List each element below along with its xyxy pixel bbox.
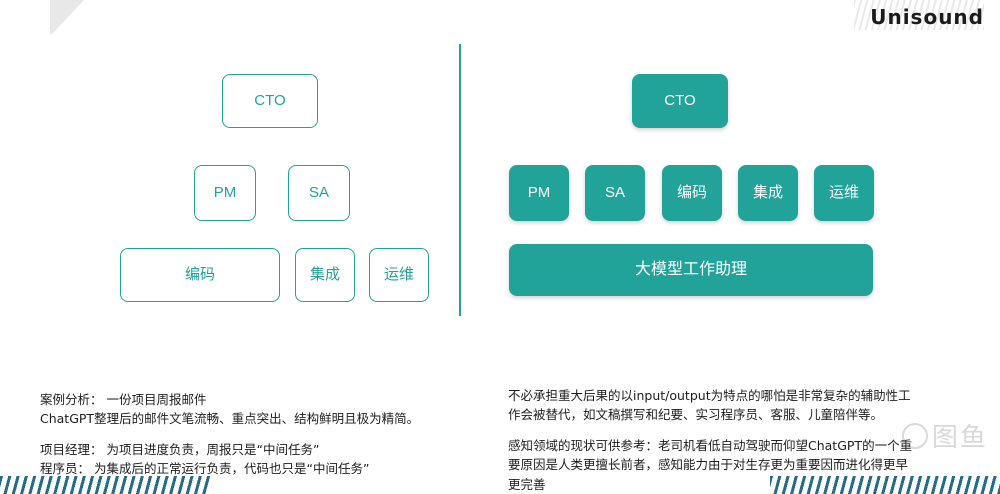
left-text-p1-l1: 案例分析： 一份项目周报邮件 (40, 390, 460, 409)
right-node-llm-assistant-label: 大模型工作助理 (635, 260, 747, 279)
slide-canvas: Unisound CTO PM SA 编码 集成 运维 CTO PM SA 编码… (0, 0, 1000, 494)
left-text-p2-l1: 项目经理： 为项目进度负责，周报只是“中间任务” (40, 440, 460, 459)
left-node-sa-label: SA (309, 184, 329, 202)
bottom-right-stripes-decoration (770, 476, 1000, 494)
corner-wedge-inner (0, 0, 50, 34)
company-logo: Unisound (870, 4, 984, 30)
left-node-integration-label: 集成 (310, 266, 340, 284)
left-text-block: 案例分析： 一份项目周报邮件 ChatGPT整理后的邮件文笔流畅、重点突出、结构… (40, 390, 460, 479)
left-node-pm: PM (194, 165, 256, 221)
watermark-circle-icon (902, 423, 928, 449)
right-node-operations-label: 运维 (829, 184, 859, 201)
logo-text: Unisound (870, 5, 984, 29)
right-node-coding-label: 编码 (677, 184, 707, 201)
right-node-pm: PM (509, 165, 569, 221)
right-node-integration: 集成 (738, 165, 798, 221)
right-node-operations: 运维 (814, 165, 874, 221)
watermark: 图鱼 (902, 417, 988, 454)
right-text-p2-l1: 感知领域的现状可供参考：老司机看低自动驾驶而仰望ChatGPT的一个重 (508, 436, 968, 455)
right-node-pm-label: PM (528, 184, 551, 202)
right-text-p1-l1: 不必承担重大后果的以input/output为特点的哪怕是非常复杂的辅助性工 (508, 386, 968, 405)
left-node-pm-label: PM (214, 184, 237, 202)
right-node-integration-label: 集成 (753, 184, 783, 201)
left-node-cto: CTO (222, 74, 318, 128)
bottom-left-stripes-decoration (0, 476, 210, 494)
right-node-llm-assistant: 大模型工作助理 (509, 244, 873, 296)
right-text-gap (508, 425, 968, 436)
left-node-coding-label: 编码 (185, 266, 215, 284)
right-node-sa: SA (585, 165, 645, 221)
left-node-integration: 集成 (295, 248, 355, 302)
left-node-cto-label: CTO (254, 92, 285, 110)
left-node-operations: 运维 (369, 248, 429, 302)
right-text-p2-l2: 要原因是人类更擅长前者，感知能力由于对生存更为重要因而进化得更早 (508, 455, 968, 474)
left-text-p1-l2: ChatGPT整理后的邮件文笔流畅、重点突出、结构鲜明且极为精简。 (40, 409, 460, 428)
left-node-coding: 编码 (120, 248, 280, 302)
left-node-sa: SA (288, 165, 350, 221)
right-text-p1-l2: 作会被替代，如文稿撰写和纪要、实习程序员、客服、儿童陪伴等。 (508, 405, 968, 424)
left-text-gap (40, 429, 460, 440)
left-node-operations-label: 运维 (384, 266, 414, 284)
right-node-sa-label: SA (605, 184, 625, 202)
right-node-cto-label: CTO (664, 92, 695, 110)
corner-wedge-decoration (0, 0, 84, 34)
watermark-text: 图鱼 (932, 417, 988, 454)
panel-divider (459, 44, 461, 316)
right-node-cto: CTO (632, 74, 728, 128)
right-node-coding: 编码 (662, 165, 722, 221)
